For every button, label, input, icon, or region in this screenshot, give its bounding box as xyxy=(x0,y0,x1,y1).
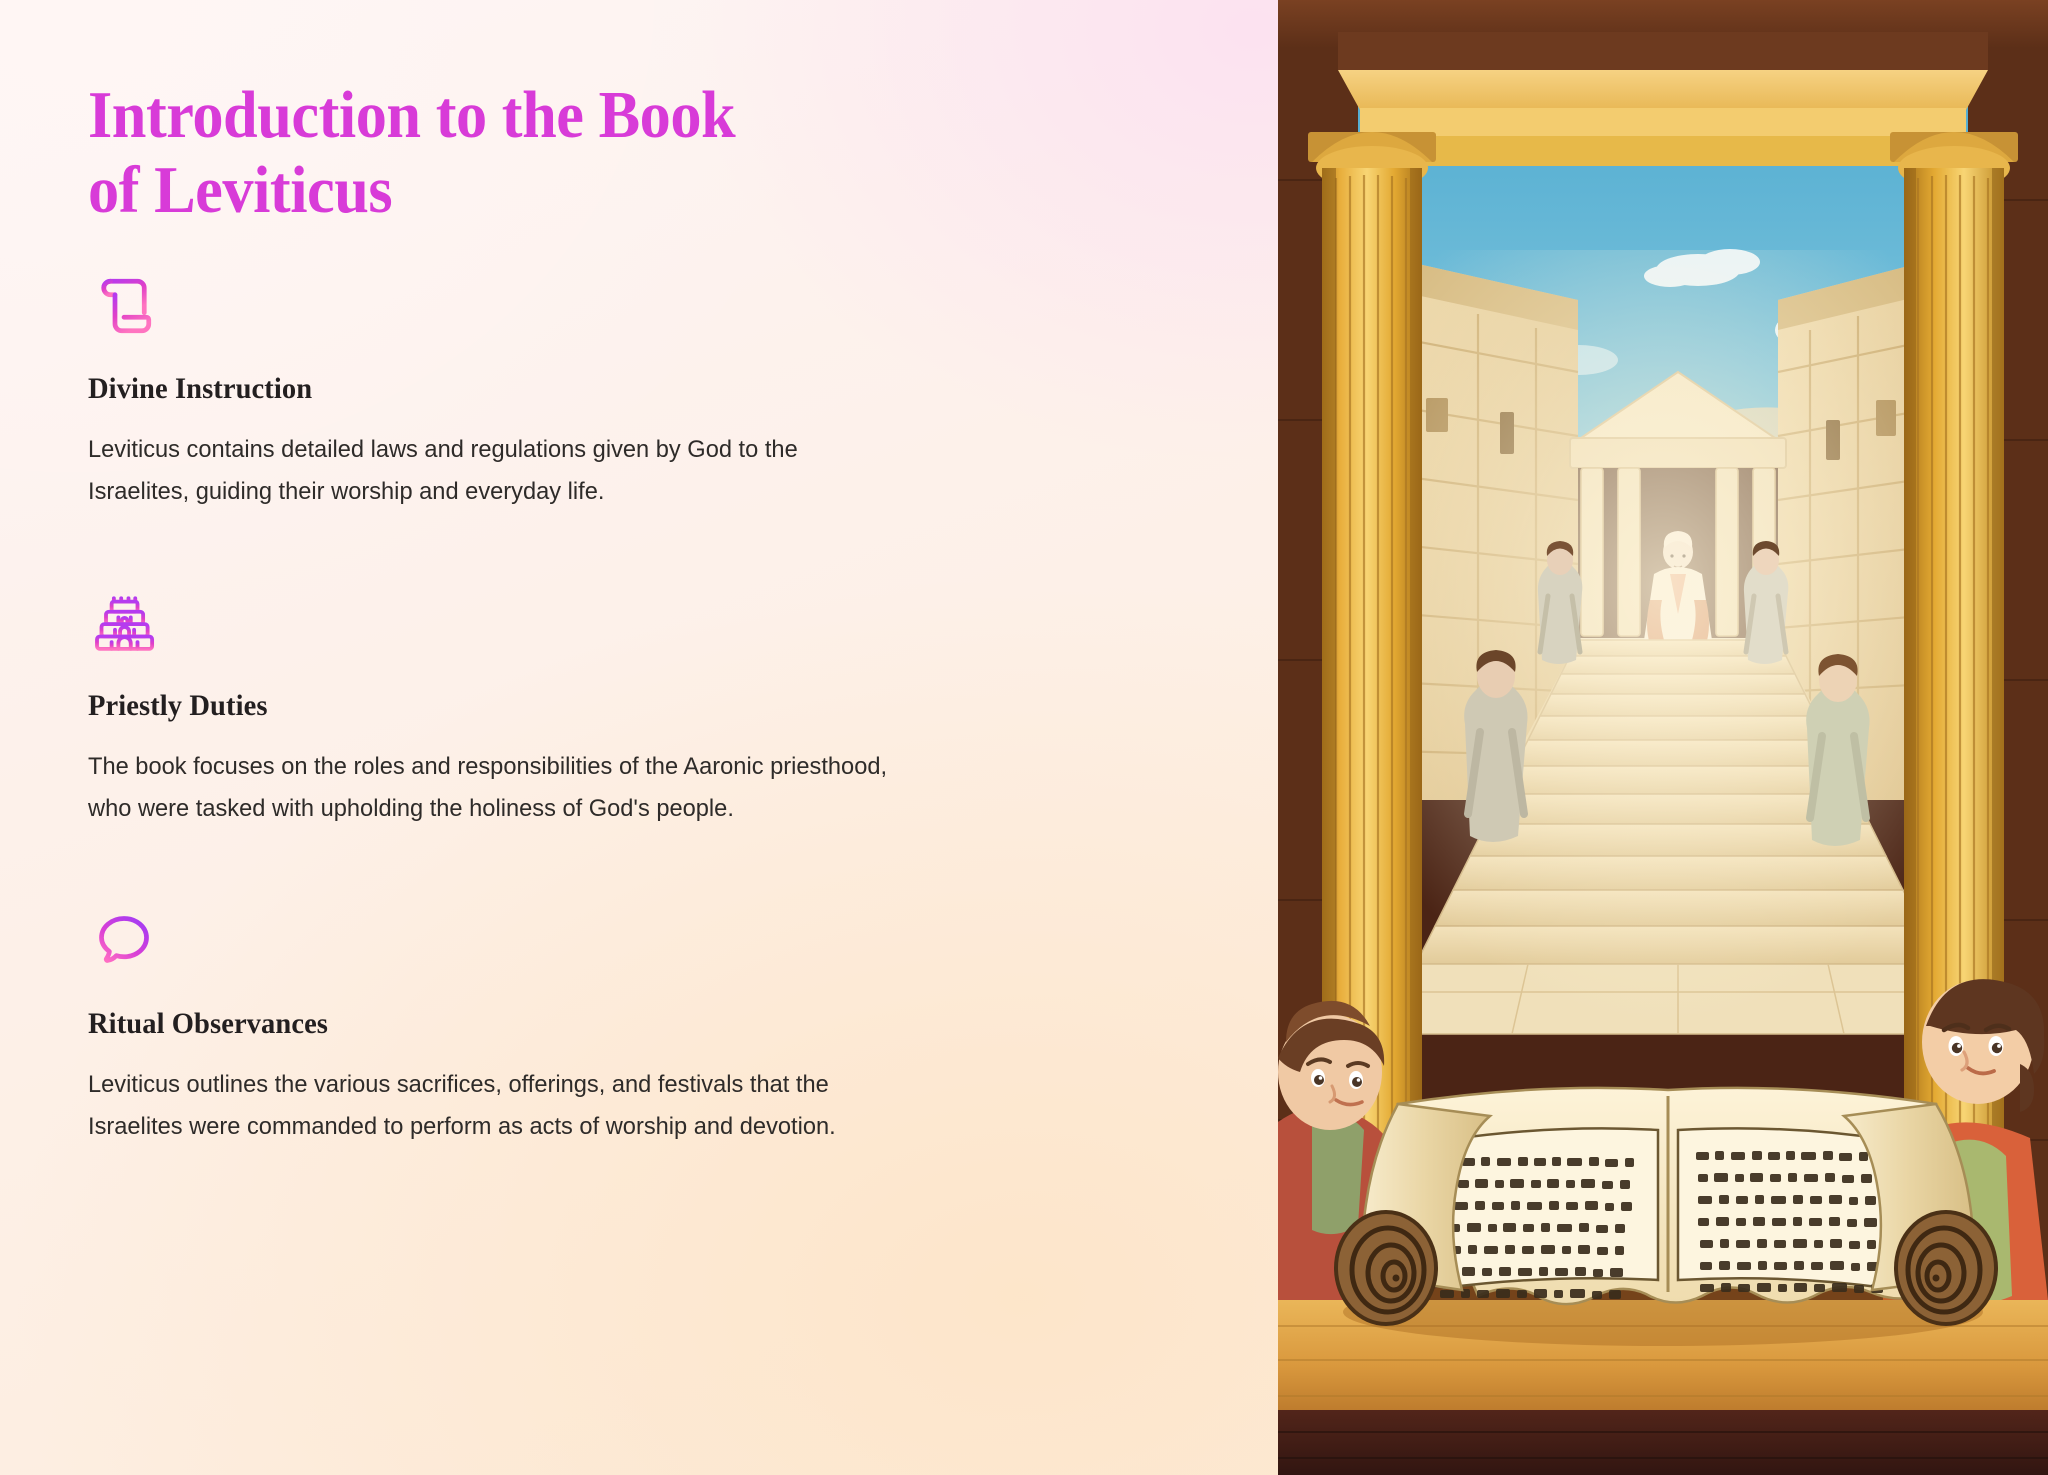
content-panel: Introduction to the Book of Leviticus xyxy=(0,0,1278,1475)
section-divine-instruction: Divine Instruction Leviticus contains de… xyxy=(88,270,1158,513)
temple-icon xyxy=(88,587,160,659)
section-list: Divine Instruction Leviticus contains de… xyxy=(88,270,1158,1148)
section-title: Priestly Duties xyxy=(88,689,1105,723)
section-body: Leviticus contains detailed laws and reg… xyxy=(88,429,889,513)
section-title: Divine Instruction xyxy=(88,372,1105,406)
page-title: Introduction to the Book of Leviticus xyxy=(88,78,795,228)
section-ritual-observances: Ritual Observances Leviticus outlines th… xyxy=(88,905,1158,1148)
section-body: Leviticus outlines the various sacrifice… xyxy=(88,1064,889,1148)
scroll-icon xyxy=(88,270,160,342)
section-priestly-duties: Priestly Duties The book focuses on the … xyxy=(88,587,1158,830)
speech-bubble-icon xyxy=(88,905,160,977)
section-title: Ritual Observances xyxy=(88,1007,1105,1041)
page-root: Introduction to the Book of Leviticus xyxy=(0,0,2048,1475)
temple-courtyard-illustration xyxy=(1278,0,2048,1475)
section-body: The book focuses on the roles and respon… xyxy=(88,746,889,830)
